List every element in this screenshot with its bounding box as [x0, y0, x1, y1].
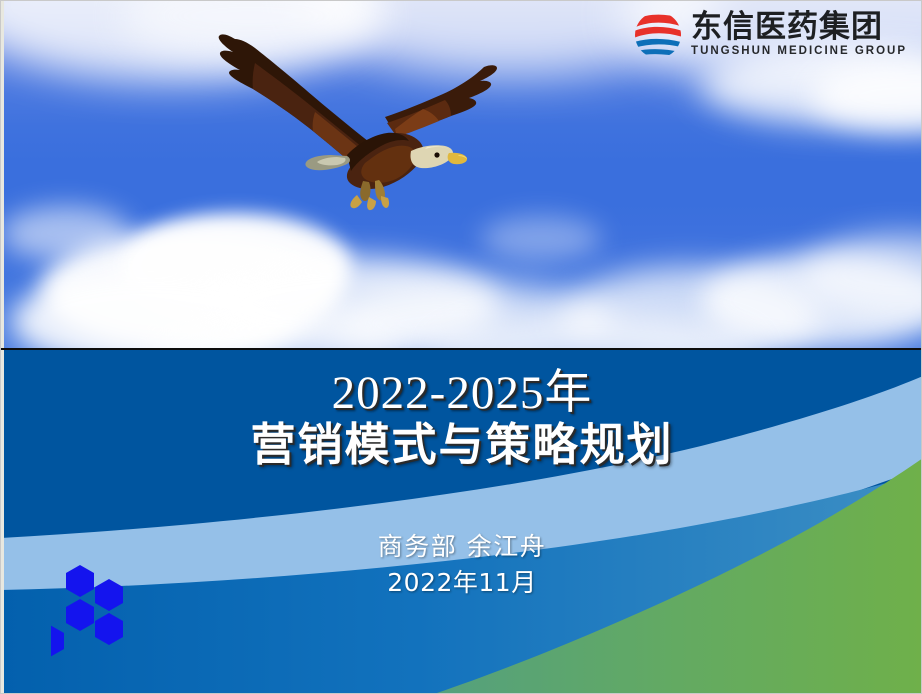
- hexagon-shape: [95, 613, 123, 645]
- tungshun-globe-mark-icon: [632, 9, 684, 61]
- eagle-icon: [197, 5, 507, 220]
- title-line-year: 2022-2025年: [1, 366, 922, 421]
- hexagon-shape: [66, 599, 94, 631]
- hexagon-shape: [51, 625, 64, 657]
- header-photo-band: 东信医药集团 TUNGSHUN MEDICINE GROUP: [1, 1, 922, 350]
- title-slide: 东信医药集团 TUNGSHUN MEDICINE GROUP: [0, 0, 922, 694]
- logo-english-name: TUNGSHUN MEDICINE GROUP: [691, 44, 907, 58]
- subtitle-block: 商务部 余江舟 2022年11月: [1, 529, 922, 600]
- subtitle-date: 2022年11月: [1, 565, 922, 601]
- title-line-main: 营销模式与策略规划: [1, 419, 922, 471]
- company-logo: 东信医药集团 TUNGSHUN MEDICINE GROUP: [632, 9, 907, 61]
- logo-chinese-name: 东信医药集团: [691, 12, 907, 44]
- title-block: 2022-2025年 营销模式与策略规划: [1, 366, 922, 472]
- logo-text-group: 东信医药集团 TUNGSHUN MEDICINE GROUP: [691, 12, 907, 59]
- subtitle-presenter: 商务部 余江舟: [1, 529, 922, 565]
